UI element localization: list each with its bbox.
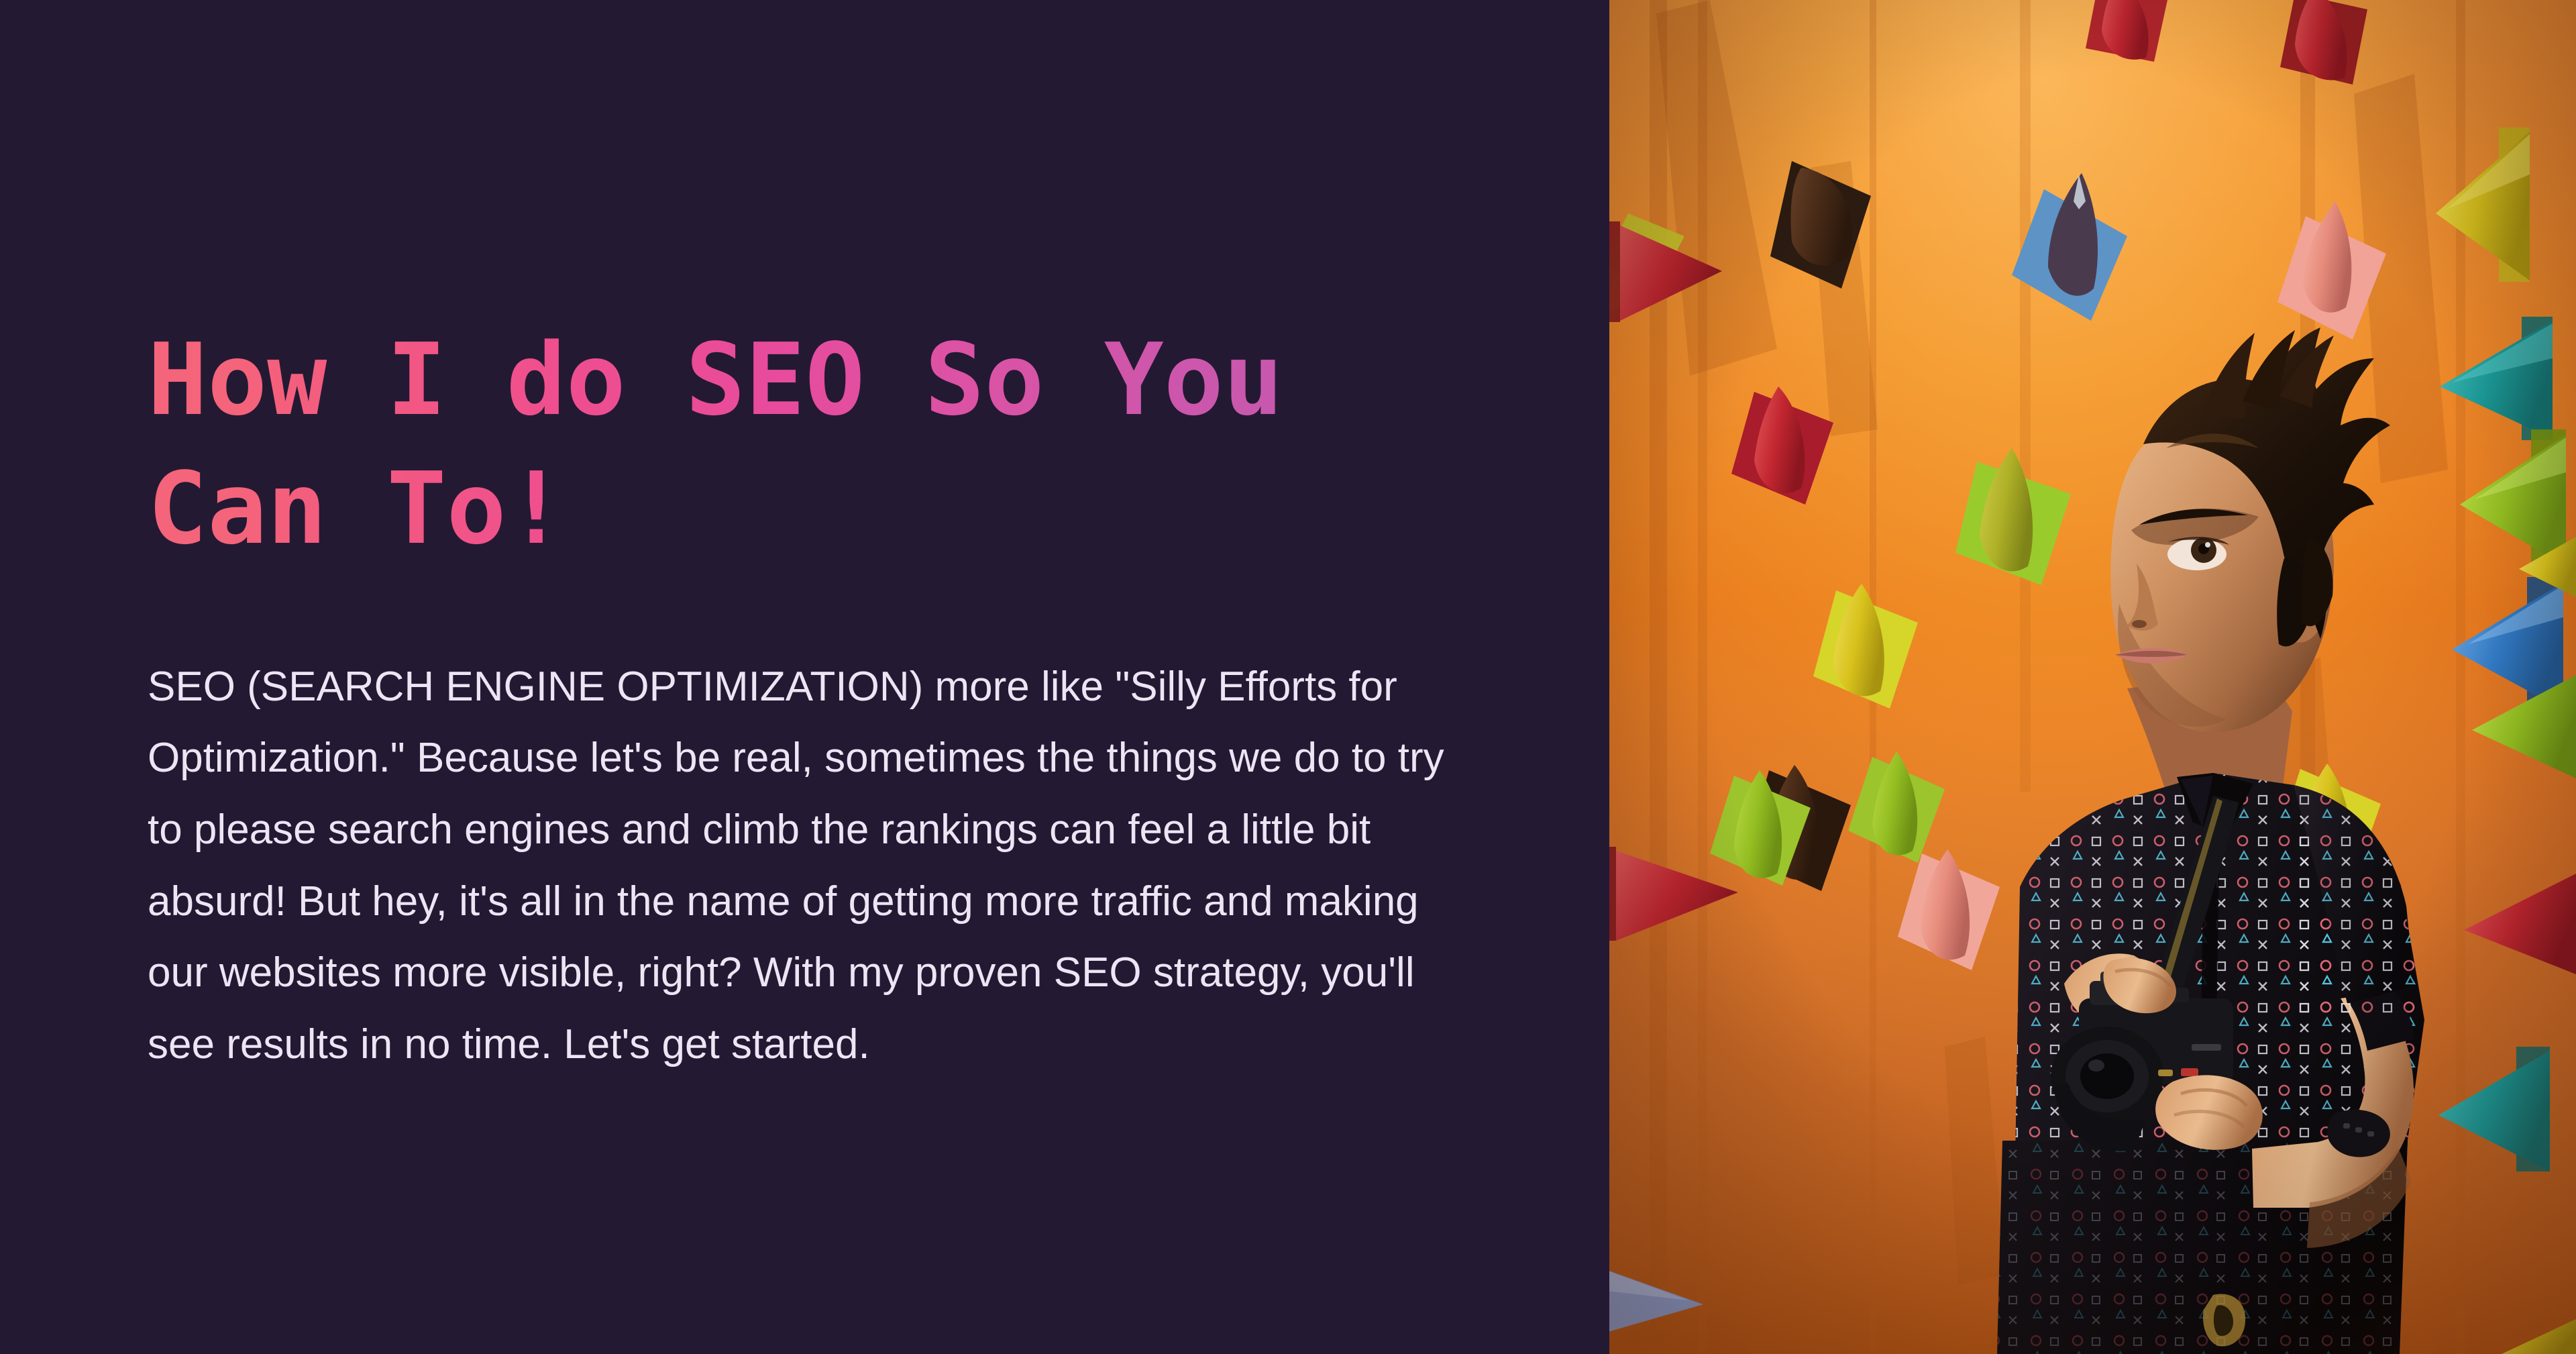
hero-photo <box>1609 0 2576 1354</box>
text-panel: How I do SEO So You Can To! SEO (SEARCH … <box>0 0 1609 1354</box>
body-paragraph: SEO (SEARCH ENGINE OPTIMIZATION) more li… <box>148 652 1456 1081</box>
hero-photo-illustration <box>1609 0 2576 1354</box>
slide-root: How I do SEO So You Can To! SEO (SEARCH … <box>0 0 2576 1354</box>
page-title: How I do SEO So You Can To! <box>148 315 1342 574</box>
